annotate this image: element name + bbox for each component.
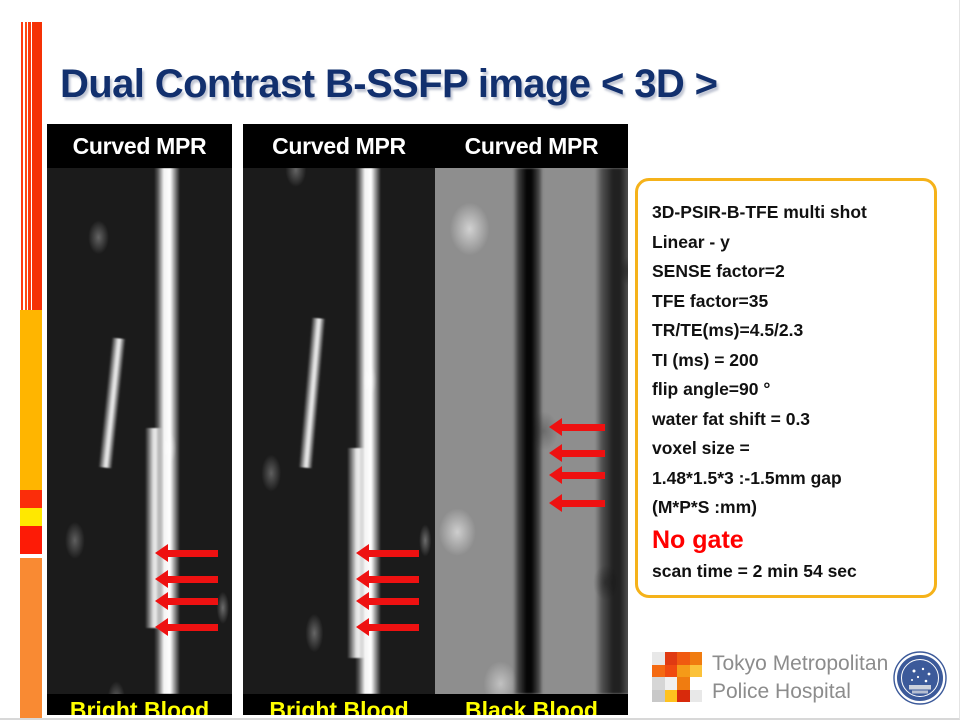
panel-header-cr: Curved MPR xyxy=(435,124,628,168)
logo-mark-cell xyxy=(652,652,665,665)
logo-text-line1: Tokyo Metropolitan xyxy=(712,650,888,678)
panel-tof: Curved MPR Bright Blood image : TOF xyxy=(47,124,232,715)
annotation-arrow xyxy=(367,624,419,631)
annotation-arrow xyxy=(367,576,419,583)
logo-mark-cell xyxy=(690,690,703,703)
bar-segment-orange-bottom xyxy=(20,558,42,720)
annotation-arrow xyxy=(166,550,218,557)
param-line: voxel size = xyxy=(652,434,934,464)
annotation-arrow xyxy=(166,576,218,583)
annotation-arrow xyxy=(560,500,605,507)
param-line: water fat shift = 0.3 xyxy=(652,405,934,435)
hospital-logo: Tokyo Metropolitan Police Hospital xyxy=(652,648,952,710)
logo-mark-cell xyxy=(665,665,678,678)
panel-caption-modulus: Bright Blood image : Modulus image xyxy=(243,694,435,715)
caption-line: Bright Blood xyxy=(243,694,435,715)
logo-mark-cell xyxy=(690,677,703,690)
annotation-arrow xyxy=(367,550,419,557)
mri-image-cr xyxy=(435,168,628,694)
logo-text-line2: Police Hospital xyxy=(712,678,888,706)
mri-texture xyxy=(243,168,435,694)
mri-image-tof xyxy=(47,168,232,694)
logo-text: Tokyo Metropolitan Police Hospital xyxy=(712,650,888,706)
bar-segment-orange-top xyxy=(20,310,42,490)
annotation-arrow xyxy=(560,424,605,431)
annotation-arrow xyxy=(166,598,218,605)
logo-mark-cell xyxy=(690,665,703,678)
annotation-arrow xyxy=(560,472,605,479)
param-line: (M*P*S :mm) xyxy=(652,493,934,523)
scan-parameters-box: 3D-PSIR-B-TFE multi shot Linear - y SENS… xyxy=(635,178,937,598)
logo-mark-cell xyxy=(665,652,678,665)
annotation-arrow xyxy=(367,598,419,605)
logo-mark-cell xyxy=(677,665,690,678)
slide-title: Dual Contrast B-SSFP image < 3D > xyxy=(60,62,900,107)
logo-mark-cell xyxy=(665,677,678,690)
panel-group-modulus-cr: Curved MPR Curved MPR Bright Blood image… xyxy=(243,124,628,715)
bar-segment-red-upper xyxy=(20,490,42,508)
annotation-arrow xyxy=(560,450,605,457)
param-line: Linear - y xyxy=(652,228,934,258)
logo-mark-cell xyxy=(665,690,678,703)
param-scan-time: scan time = 2 min 54 sec xyxy=(652,557,934,587)
logo-mark-cell xyxy=(652,677,665,690)
logo-mark-cell xyxy=(652,665,665,678)
slide-canvas: Dual Contrast B-SSFP image < 3D > Curved… xyxy=(0,0,960,720)
logo-checker-mark xyxy=(652,652,702,702)
left-decorative-bar xyxy=(20,22,42,712)
param-line: flip angle=90 ° xyxy=(652,375,934,405)
university-seal-icon xyxy=(892,650,948,706)
bar-segment-yellow xyxy=(20,508,42,526)
logo-mark-cell xyxy=(690,652,703,665)
logo-mark-cell xyxy=(677,652,690,665)
mri-image-modulus xyxy=(243,168,435,694)
caption-line: Black Blood xyxy=(435,694,628,715)
bar-segment-stripes xyxy=(20,22,42,310)
param-line: 3D-PSIR-B-TFE multi shot xyxy=(652,198,934,228)
param-line: 1.48*1.5*3 :-1.5mm gap xyxy=(652,464,934,494)
panel-header-modulus: Curved MPR xyxy=(243,124,435,168)
param-line: TFE factor=35 xyxy=(652,287,934,317)
logo-mark-cell xyxy=(677,677,690,690)
param-no-gate-highlight: No gate xyxy=(652,523,934,557)
vessel-lumen-suppressed xyxy=(513,168,543,694)
panel-caption-cr: Black Blood image : CR image xyxy=(435,694,628,715)
panel-header-tof: Curved MPR xyxy=(47,124,232,168)
panel-caption-tof: Bright Blood image : TOF xyxy=(47,694,232,715)
param-line: TR/TE(ms)=4.5/2.3 xyxy=(652,316,934,346)
param-line: TI (ms) = 200 xyxy=(652,346,934,376)
mri-texture xyxy=(47,168,232,694)
annotation-arrow xyxy=(166,624,218,631)
logo-mark-cell xyxy=(677,690,690,703)
logo-mark-cell xyxy=(652,690,665,703)
bar-segment-red-lower xyxy=(20,526,42,554)
caption-line: Bright Blood xyxy=(47,694,232,715)
param-line: SENSE factor=2 xyxy=(652,257,934,287)
tissue-shadow xyxy=(595,168,628,694)
